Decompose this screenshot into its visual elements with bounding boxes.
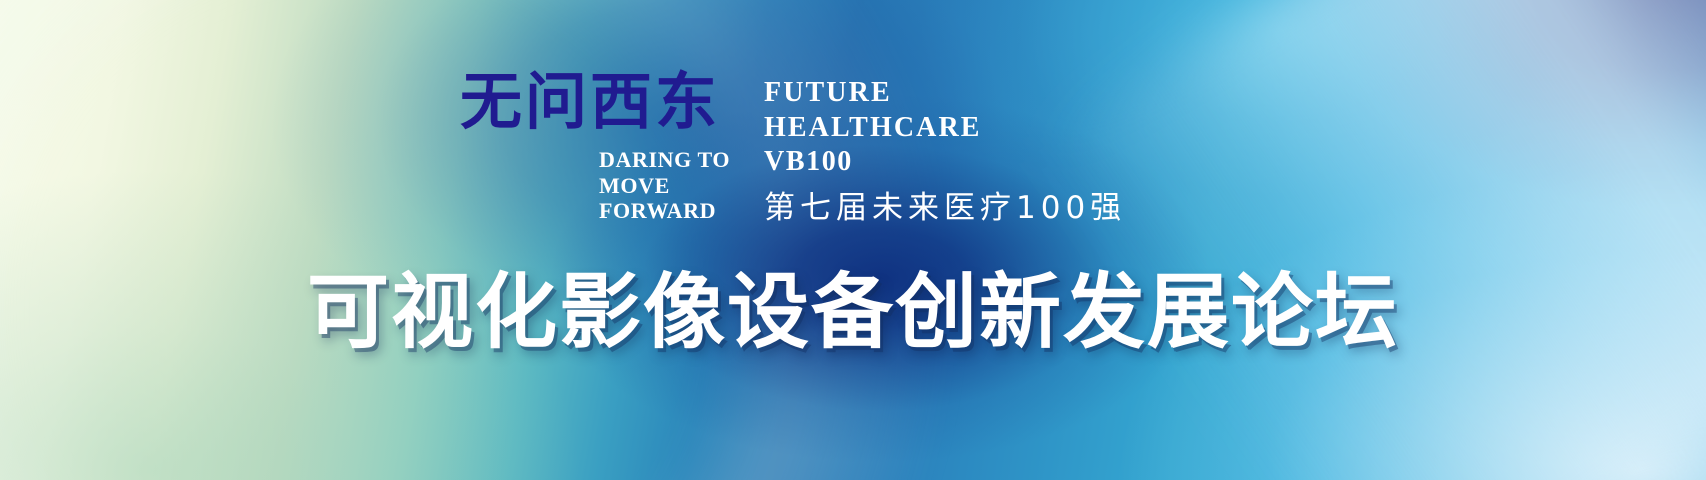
brand-lockup: 无问西东 DARING TO MOVE FORWARD FUTURE HEALT… (460, 72, 1126, 227)
brand-english-line-vb100: VB100 (764, 145, 1126, 180)
brand-chinese-subtitle: 第七届未来医疗100强 (764, 191, 1126, 227)
brand-english-line-healthcare: HEALTHCARE (764, 111, 1126, 146)
tagline-line-2: MOVE (599, 173, 730, 199)
page-title: 可视化影像设备创新发展论坛 (0, 268, 1706, 358)
brand-lockup-left: 无问西东 DARING TO MOVE FORWARD (460, 72, 755, 134)
event-banner: 无问西东 DARING TO MOVE FORWARD FUTURE HEALT… (0, 0, 1706, 480)
brand-lockup-right: FUTURE HEALTHCARE VB100 第七届未来医疗100强 (764, 72, 1126, 227)
wordmark-chinese: 无问西东 (460, 72, 755, 134)
brand-tagline: DARING TO MOVE FORWARD (599, 147, 730, 224)
tagline-line-3: FORWARD (599, 198, 730, 224)
tagline-line-1: DARING TO (599, 147, 730, 173)
banner-content: 无问西东 DARING TO MOVE FORWARD FUTURE HEALT… (0, 0, 1706, 480)
brand-english-line-future: FUTURE (764, 76, 1126, 111)
